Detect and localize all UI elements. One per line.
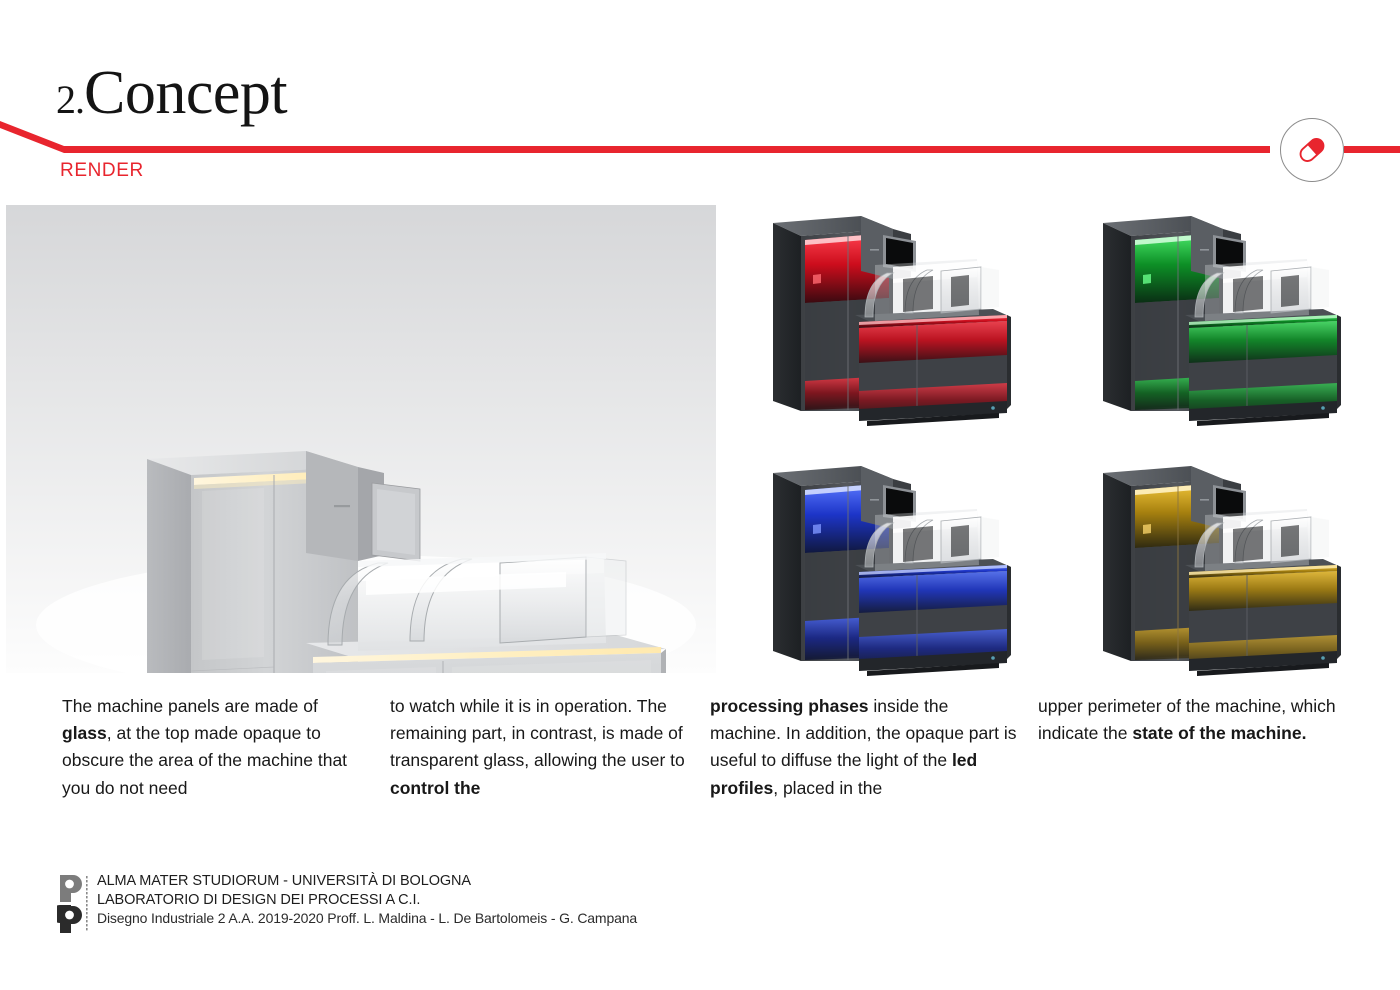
pill-capsule-icon xyxy=(1291,129,1333,171)
text-column-3: processing phases inside the machine. In… xyxy=(710,693,1022,802)
slide-header: 2.Concept RENDER xyxy=(0,0,1400,200)
list-item[interactable] xyxy=(755,455,1055,687)
page-subtitle: RENDER xyxy=(60,160,144,182)
page-title-number: 2. xyxy=(56,77,84,122)
main-machine-render xyxy=(6,205,716,673)
page-title: 2.Concept xyxy=(56,62,287,124)
page-title-word: Concept xyxy=(84,59,287,127)
footer-line-lab: LABORATORIO DI DESIGN DEI PROCESSI A C.I… xyxy=(97,891,637,910)
render-gallery xyxy=(0,200,1400,678)
text-column-1: The machine panels are made of glass, at… xyxy=(62,693,354,802)
text-column-4: upper perimeter of the machine, which in… xyxy=(1038,693,1338,747)
list-item[interactable] xyxy=(755,205,1055,437)
footer-text-block: ALMA MATER STUDIORUM - UNIVERSITÀ DI BOL… xyxy=(97,872,637,928)
footer-line-university: ALMA MATER STUDIORUM - UNIVERSITÀ DI BOL… xyxy=(97,872,637,891)
list-item[interactable] xyxy=(1085,205,1385,437)
body-text-columns: The machine panels are made of glass, at… xyxy=(0,693,1400,843)
ad-monogram-logo xyxy=(57,872,99,936)
footer-line-course: Disegno Industriale 2 A.A. 2019-2020 Pro… xyxy=(97,910,637,928)
list-item[interactable] xyxy=(1085,455,1385,687)
text-column-2: to watch while it is in operation. The r… xyxy=(390,693,690,802)
pill-badge xyxy=(1280,118,1344,182)
slide-footer: ALMA MATER STUDIORUM - UNIVERSITÀ DI BOL… xyxy=(0,860,1400,960)
